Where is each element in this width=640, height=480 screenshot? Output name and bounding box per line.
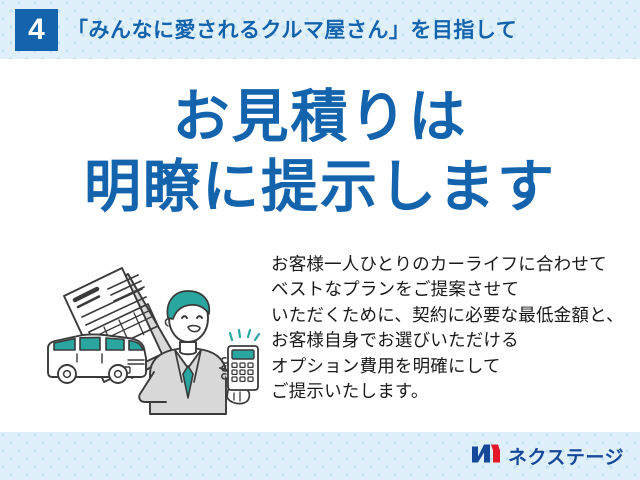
body-line: オプション費用を明確にして xyxy=(271,354,631,379)
header-bar: 4 「みんなに愛されるクルマ屋さん」を目指して xyxy=(0,0,640,59)
section-number-badge: 4 xyxy=(15,9,58,51)
headline: お見積りは 明瞭に提示します xyxy=(0,82,640,222)
headline-line-2: 明瞭に提示します xyxy=(0,152,640,222)
salesperson-illustration xyxy=(42,262,272,422)
headline-line-1: お見積りは xyxy=(0,82,640,152)
sparkle-icon xyxy=(230,330,259,340)
footer-bar: ネクステージ xyxy=(0,432,640,480)
promo-slide: 4 「みんなに愛されるクルマ屋さん」を目指して お見積りは 明瞭に提示します お… xyxy=(0,0,640,480)
body-line: ベストなプランをご提案させて xyxy=(271,277,631,302)
brand-name: ネクステージ xyxy=(508,443,624,470)
body-line: お客様一人ひとりのカーライフに合わせて xyxy=(271,252,631,277)
body-line: お客様自身でお選びいただける xyxy=(271,328,631,353)
brand-lockup: ネクステージ xyxy=(471,443,624,470)
body-line: ご提示いたします。 xyxy=(271,379,631,404)
header-title: 「みんなに愛されるクルマ屋さん」を目指して xyxy=(67,12,517,50)
van-illustration xyxy=(48,334,146,383)
body-line: いただくために、契約に必要な最低金額と、 xyxy=(271,303,631,328)
body-paragraph: お客様一人ひとりのカーライフに合わせて ベストなプランをご提案させて いただくた… xyxy=(271,252,631,404)
calculator-illustration xyxy=(222,346,258,390)
n-logo-icon xyxy=(471,443,501,470)
